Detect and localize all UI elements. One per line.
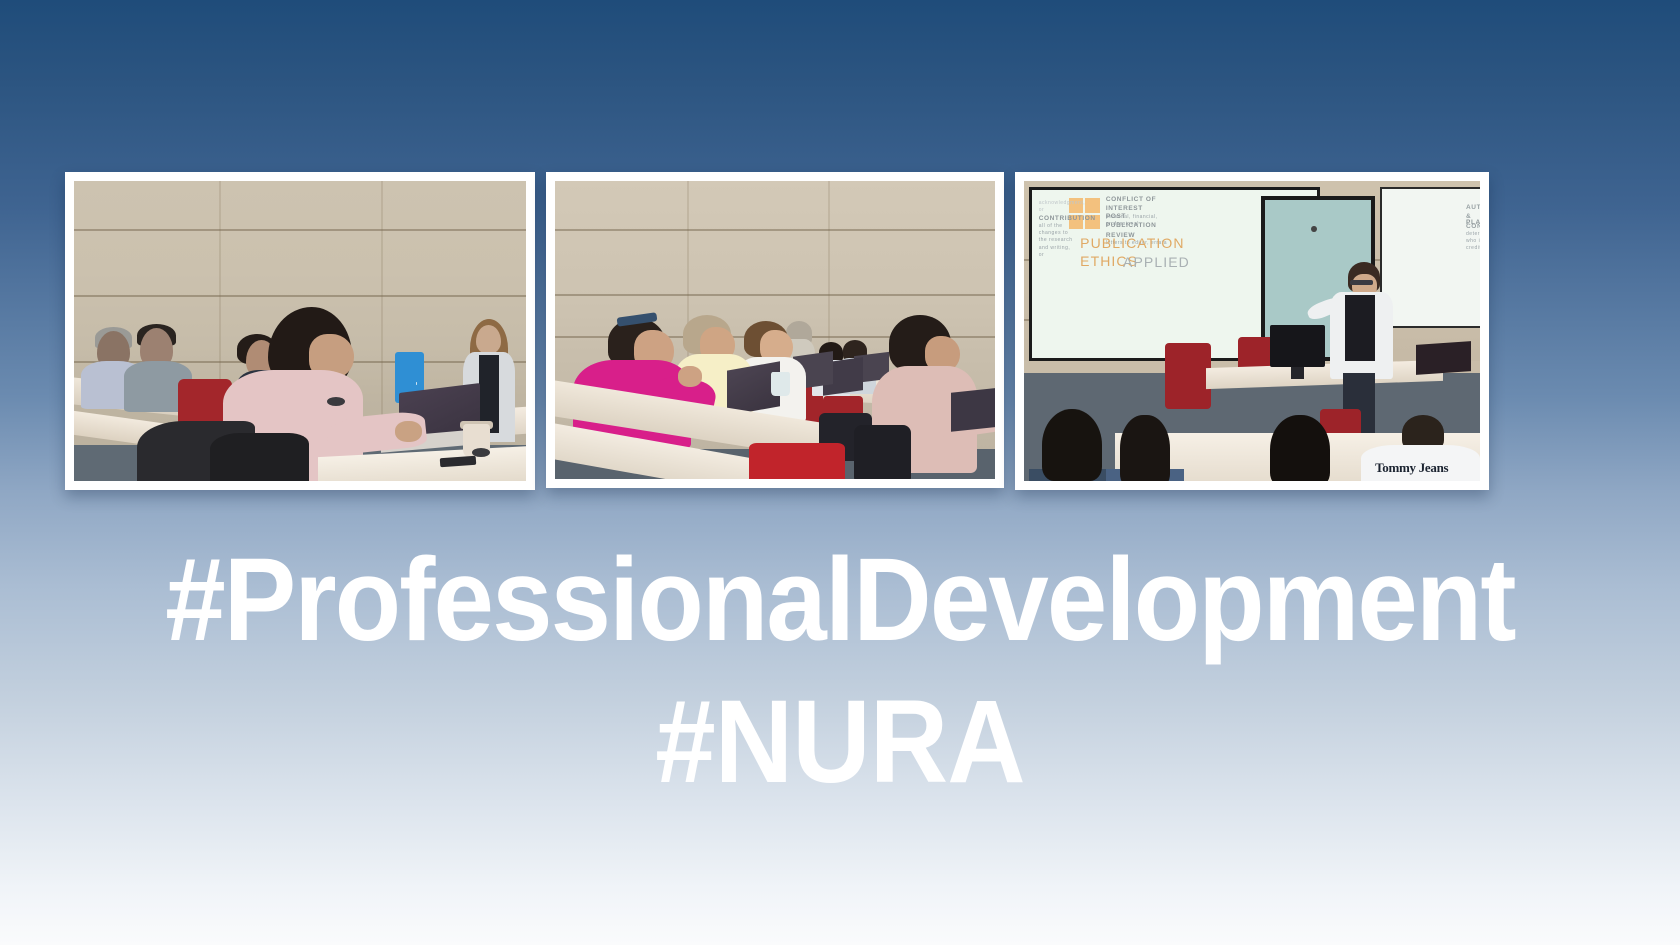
wall-seam-icon [74,295,526,297]
mouse-icon [472,448,490,457]
slide-subtitle: APPLIED [1123,254,1237,270]
slide-bullet-body: determining who is credited [1466,231,1480,252]
photo-strip: acknowledgment, or CONTRIBUTION all of t… [65,172,1490,490]
photo-frame-3: acknowledgment, or CONTRIBUTION all of t… [1015,172,1489,490]
photo-frame-2 [546,172,1004,488]
photo-3-presenter-slide: acknowledgment, or CONTRIBUTION all of t… [1024,181,1480,481]
person-hair [1120,415,1170,481]
whiteboard-marker-icon [1311,226,1316,232]
slide-bullet-heading: CONTRIBUTION [1039,214,1076,223]
chair [749,443,846,479]
headline-line-2: #NURA [67,682,1613,802]
wall-seam-icon [555,294,995,296]
laptop [1416,341,1471,375]
desktop-monitor [1270,325,1325,367]
projection-screen-right: AUTHORSHIP & CONTRIBUTION determining wh… [1380,187,1480,328]
laptop [951,387,995,431]
stand-handle-icon [416,382,417,385]
person-hand [395,421,422,442]
slide-bullet-heading: PLAGIARISM [1466,218,1480,227]
chair [854,425,911,479]
person-hair [1042,409,1101,481]
wall-seam-icon [74,229,526,231]
photo-1-classroom-laptops [74,181,526,481]
drink-cup [771,372,791,396]
slide-bullet-body: all of the changes to the research and w… [1039,223,1073,258]
slide2-bullet-authorship: AUTHORSHIP & CONTRIBUTION determining wh… [1466,203,1480,253]
headline-line-1: #ProfessionalDevelopment [67,540,1613,660]
slide-corner-note: acknowledgment, or [1039,200,1073,215]
presentation-slide: acknowledgment, or CONTRIBUTION all of t… [0,0,1680,945]
tshirt-brand-text: Tommy Jeans [1375,460,1448,476]
person-top [1345,295,1375,361]
photo-frame-1 [65,172,535,490]
slide2-bullet-plagiarism: PLAGIARISM [1466,218,1480,227]
glasses-icon [1350,280,1373,285]
person-hair [1270,415,1329,481]
chair [1165,343,1211,409]
monitor-stand [1291,367,1305,379]
person-head [476,325,501,354]
slide-bullet-contribution: CONTRIBUTION all of the changes to the r… [1039,214,1076,260]
photo-2-attendees-row [555,181,995,479]
wall-seam-icon [555,229,995,231]
headline-block: #ProfessionalDevelopment #NURA [0,540,1680,803]
chair [210,433,309,481]
person-hand [678,366,702,387]
